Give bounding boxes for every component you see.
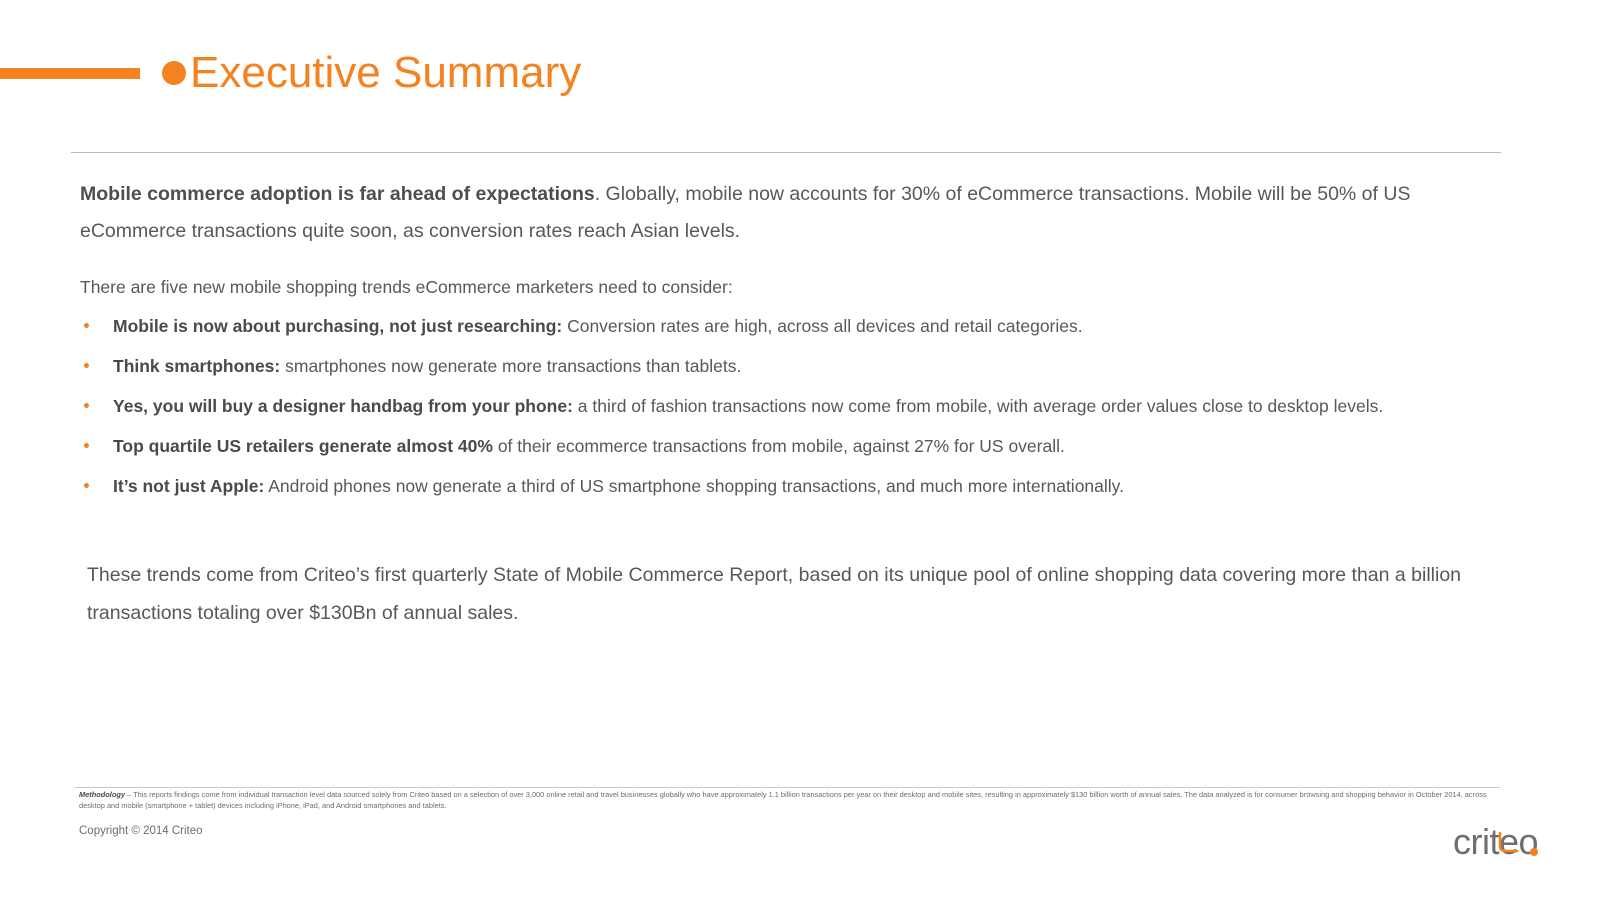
methodology-label: Methodology bbox=[79, 790, 125, 799]
bullet-dot-icon bbox=[84, 403, 89, 408]
list-item: Mobile is now about purchasing, not just… bbox=[80, 314, 1500, 338]
list-item: Yes, you will buy a designer handbag fro… bbox=[80, 394, 1500, 418]
list-item-bold-text: Yes, you will buy a designer handbag fro… bbox=[113, 396, 573, 416]
footer-divider bbox=[75, 787, 1500, 788]
list-item: Top quartile US retailers generate almos… bbox=[80, 434, 1500, 458]
intro-paragraph: There are five new mobile shopping trend… bbox=[80, 274, 1500, 300]
slide-title-block: Executive Summary bbox=[0, 44, 1600, 108]
bullet-dot-icon bbox=[84, 483, 89, 488]
page-title: Executive Summary bbox=[190, 44, 581, 102]
slide-content: Mobile commerce adoption is far ahead of… bbox=[80, 176, 1500, 652]
bullet-dot-icon bbox=[84, 363, 89, 368]
copyright-text: Copyright © 2014 Criteo bbox=[79, 823, 203, 839]
list-item-bold-text: Think smartphones: bbox=[113, 356, 280, 376]
bullet-dot-icon bbox=[84, 443, 89, 448]
list-item-rest-text: Conversion rates are high, across all de… bbox=[562, 316, 1082, 336]
trends-list: Mobile is now about purchasing, not just… bbox=[80, 314, 1500, 498]
lede-paragraph: Mobile commerce adoption is far ahead of… bbox=[80, 176, 1480, 250]
title-accent-bar-icon bbox=[0, 68, 140, 79]
list-item-bold-text: It’s not just Apple: bbox=[113, 476, 264, 496]
title-accent-dot-icon bbox=[162, 61, 186, 85]
list-item: Think smartphones: smartphones now gener… bbox=[80, 354, 1500, 378]
list-item-rest-text: a third of fashion transactions now come… bbox=[573, 396, 1383, 416]
header-divider bbox=[71, 152, 1501, 153]
list-item-rest-text: smartphones now generate more transactio… bbox=[280, 356, 741, 376]
list-item-bold-text: Mobile is now about purchasing, not just… bbox=[113, 316, 562, 336]
criteo-logo-wordmark: criteo bbox=[1453, 824, 1538, 860]
lede-bold-text: Mobile commerce adoption is far ahead of… bbox=[80, 183, 595, 205]
criteo-logo: criteo bbox=[1453, 818, 1538, 860]
list-item: It’s not just Apple: Android phones now … bbox=[80, 474, 1500, 498]
methodology-text: – This reports findings come from indivi… bbox=[79, 790, 1487, 810]
list-item-rest-text: of their ecommerce transactions from mob… bbox=[493, 436, 1065, 456]
bullet-dot-icon bbox=[84, 323, 89, 328]
methodology-note: Methodology – This reports findings come… bbox=[79, 790, 1499, 811]
criteo-logo-dot-icon bbox=[1530, 848, 1538, 856]
list-item-rest-text: Android phones now generate a third of U… bbox=[264, 476, 1124, 496]
list-item-bold-text: Top quartile US retailers generate almos… bbox=[113, 436, 493, 456]
closing-paragraph: These trends come from Criteo’s first qu… bbox=[87, 556, 1467, 632]
criteo-logo-swoosh-icon bbox=[1497, 832, 1519, 854]
